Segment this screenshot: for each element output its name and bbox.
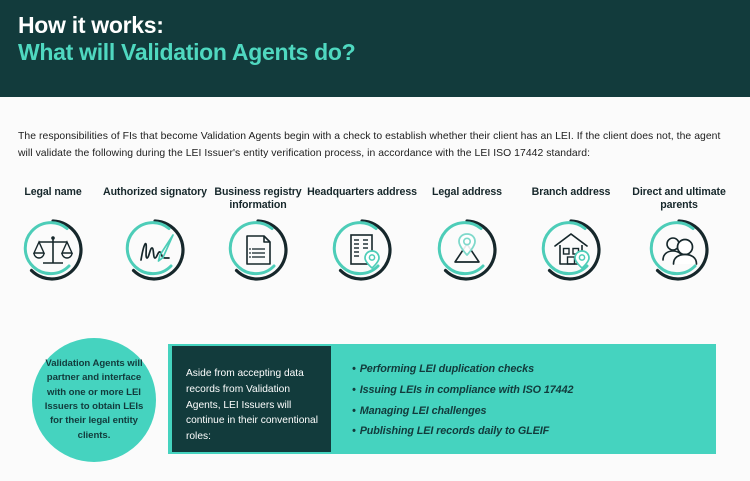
- map-pin-icon: [435, 218, 499, 282]
- list-item-label: Publishing LEI records daily to GLEIF: [360, 425, 549, 437]
- check-label: Authorized signatory: [96, 186, 214, 214]
- validation-agents-circle: Validation Agents will partner and inter…: [32, 338, 156, 462]
- list-item-label: Performing LEI duplication checks: [360, 363, 534, 375]
- check-item-legal-address: Legal address: [408, 186, 526, 282]
- lei-issuer-roles-list: •Performing LEI duplication checks •Issu…: [352, 364, 702, 447]
- document-icon: [226, 218, 290, 282]
- check-item-business-registry: Business registry information: [199, 186, 317, 282]
- bullet-marker: •: [352, 364, 356, 375]
- infographic-page: How it works: What will Validation Agent…: [0, 0, 750, 481]
- list-item: •Performing LEI duplication checks: [352, 364, 702, 375]
- lei-issuer-intro-panel: Aside from accepting data records from V…: [172, 346, 331, 452]
- list-item-label: Issuing LEIs in compliance with ISO 1744…: [360, 384, 574, 396]
- check-label: Business registry information: [199, 186, 317, 214]
- signature-pen-icon: [123, 218, 187, 282]
- intro-paragraph: The responsibilities of FIs that become …: [18, 129, 730, 163]
- page-subtitle: What will Validation Agents do?: [18, 39, 355, 66]
- house-pin-icon: [539, 218, 603, 282]
- list-item: •Issuing LEIs in compliance with ISO 174…: [352, 385, 702, 396]
- list-item-label: Managing LEI challenges: [360, 405, 487, 417]
- page-title: How it works:: [18, 12, 164, 39]
- list-item: •Managing LEI challenges: [352, 406, 702, 417]
- check-item-headquarters-address: Headquarters address: [303, 186, 421, 282]
- list-item: •Publishing LEI records daily to GLEIF: [352, 426, 702, 437]
- check-label: Direct and ultimate parents: [620, 186, 738, 214]
- check-label: Legal address: [408, 186, 526, 214]
- checks-icon-row: Legal name Authorized sig: [0, 186, 750, 306]
- bullet-marker: •: [352, 426, 356, 437]
- lei-issuer-intro-text: Aside from accepting data records from V…: [186, 366, 318, 445]
- building-list-pin-icon: [330, 218, 394, 282]
- scales-of-justice-icon: [21, 218, 85, 282]
- bullet-marker: •: [352, 406, 356, 417]
- bullet-marker: •: [352, 385, 356, 396]
- header-band: How it works: What will Validation Agent…: [0, 0, 750, 97]
- two-people-icon: [647, 218, 711, 282]
- validation-agents-circle-text: Validation Agents will partner and inter…: [39, 357, 149, 443]
- check-label: Headquarters address: [303, 186, 421, 214]
- check-item-branch-address: Branch address: [512, 186, 630, 282]
- check-item-direct-ultimate-parents: Direct and ultimate parents: [620, 186, 738, 282]
- check-item-authorized-signatory: Authorized signatory: [96, 186, 214, 282]
- check-label: Branch address: [512, 186, 630, 214]
